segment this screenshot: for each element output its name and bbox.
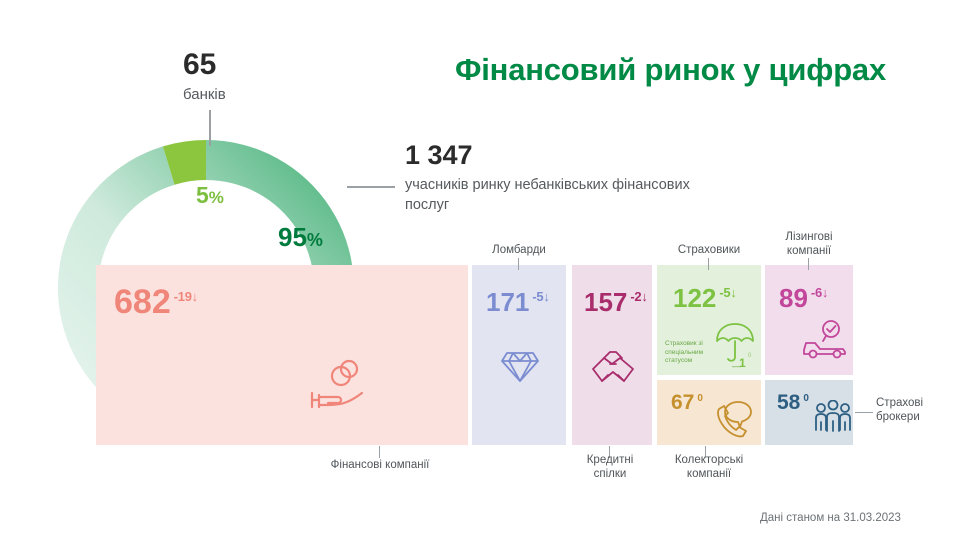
banks-percent-symbol: % [209, 188, 224, 207]
card-value: 580 [777, 392, 809, 413]
card-number: 67 [671, 391, 694, 414]
participants-value: 1 347 [405, 140, 473, 171]
card-value: 89-6↓ [779, 285, 828, 311]
banks-label: банків [183, 86, 226, 103]
leader-lombards [518, 258, 519, 270]
card-delta: -2↓ [630, 289, 647, 304]
banks-value: 65 [183, 48, 216, 82]
card-delta: 0 [697, 393, 702, 404]
car-icon [801, 319, 849, 359]
label-brokers: Страхові брокери [876, 396, 958, 424]
card-number: 157 [584, 287, 627, 317]
card-lombards[interactable]: 171-5↓ [472, 265, 566, 445]
label-financial-companies: Фінансові компанії [315, 458, 445, 472]
card-leasing-companies[interactable]: 89-6↓ [765, 265, 853, 375]
banks-leader-line [209, 110, 211, 146]
card-number: 122 [673, 283, 716, 313]
card-number: 89 [779, 283, 808, 313]
nonbank-percent: 95% [278, 222, 323, 253]
participants-leader-line [347, 186, 395, 188]
card-delta: -5↓ [719, 285, 736, 300]
banks-percent: 5% [196, 182, 224, 209]
card-value: 670 [671, 392, 703, 413]
diamond-icon [500, 347, 540, 385]
page-title: Фінансовий ринок у цифрах [455, 52, 925, 88]
leader-financial-companies [379, 446, 380, 458]
label-lombards: Ломбарди [478, 243, 560, 257]
card-value: 122-5↓ [673, 285, 737, 311]
leader-brokers [855, 412, 873, 413]
card-insurance-brokers[interactable]: 580 [765, 380, 853, 445]
label-credit-unions: Кредитні спілки [572, 453, 648, 481]
nonbank-percent-symbol: % [307, 230, 323, 250]
phone-speech-icon [713, 400, 753, 438]
leader-leasing [808, 258, 809, 270]
label-insurers: Страховики [663, 243, 755, 257]
card-credit-unions[interactable]: 157-2↓ [572, 265, 652, 445]
card-delta: -5↓ [532, 289, 549, 304]
card-number: 171 [486, 287, 529, 317]
card-number: 682 [114, 283, 171, 321]
card-delta: -6↓ [811, 285, 828, 300]
card-collector-companies[interactable]: 670 [657, 380, 761, 445]
footer-note: Дані станом на 31.03.2023 [760, 512, 901, 524]
card-insurers[interactable]: 122-5↓ Страховик зі спеціальним статусом… [657, 265, 761, 375]
banks-percent-value: 5 [196, 182, 209, 208]
handshake-icon [590, 347, 636, 387]
participants-label: учасників ринку небанківських фінансових… [405, 175, 705, 215]
nonbank-percent-value: 95 [278, 222, 307, 252]
card-financial-companies[interactable]: 682-19↓ [96, 265, 468, 445]
card-value: 682-19↓ [114, 285, 198, 319]
card-value: 171-5↓ [486, 289, 550, 315]
card-value: 157-2↓ [584, 289, 648, 315]
leader-insurers [708, 258, 709, 270]
people-group-icon [813, 400, 853, 436]
label-collectors: Колекторські компанії [660, 453, 758, 481]
special-status-delta: 0 [748, 353, 751, 359]
card-number: 58 [777, 391, 800, 414]
card-delta: 0 [803, 393, 808, 404]
infographic-root: Фінансовий ринок у цифрах 65 банків [0, 0, 960, 540]
hand-with-coins-icon [308, 357, 368, 415]
special-status-note: Страховик зі спеціальним статусом [665, 340, 731, 366]
card-delta: -19↓ [174, 289, 198, 304]
special-status-value: 1 [739, 356, 746, 370]
label-leasing: Лізингові компанії [768, 230, 850, 258]
